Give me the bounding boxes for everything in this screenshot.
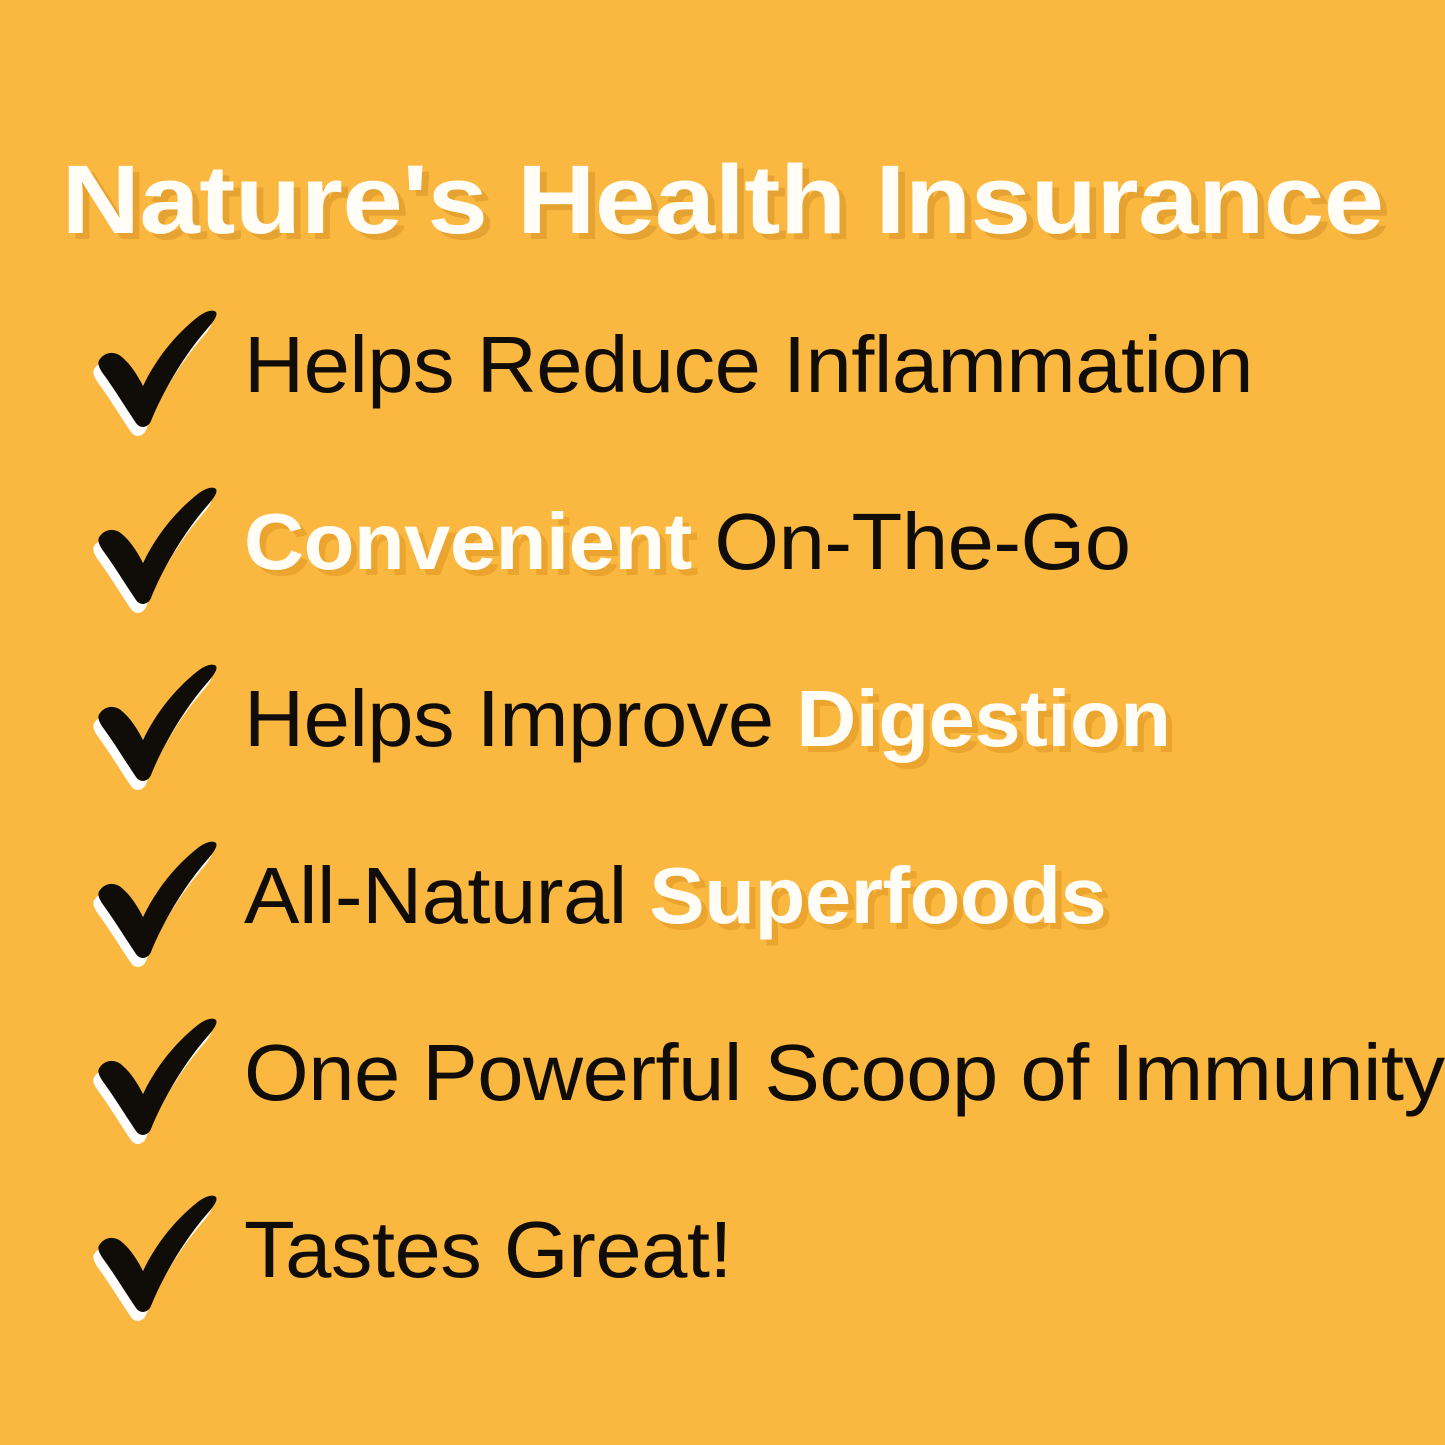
page-title: Nature's Health Insurance: [0, 151, 1445, 248]
check-mark-icon: [96, 478, 220, 606]
benefit-row-2: Convenient On-The-Go: [0, 453, 1445, 630]
check-mark-icon: [96, 1009, 220, 1137]
benefit-label-6: Tastes Great!: [244, 1208, 1445, 1292]
benefit-plain: One Powerful Scoop of Immunity: [244, 1028, 1445, 1117]
benefit-label-4: All-Natural Superfoods: [244, 854, 1445, 938]
benefit-plain: All-Natural: [244, 851, 649, 940]
benefit-row-3: Helps Improve Digestion: [0, 630, 1445, 807]
benefit-row-1: Helps Reduce Inflammation: [0, 276, 1445, 453]
benefit-row-4: All-Natural Superfoods: [0, 807, 1445, 984]
benefit-highlight: Convenient: [244, 497, 692, 586]
benefit-highlight: Superfoods: [649, 851, 1106, 940]
benefit-label-3: Helps Improve Digestion: [244, 677, 1445, 761]
check-mark-icon: [96, 301, 220, 429]
product-benefits-poster: Nature's Health Insurance Helps Reduce I…: [0, 0, 1445, 1445]
benefit-label-1: Helps Reduce Inflammation: [244, 323, 1445, 407]
benefit-plain: Helps Improve: [244, 674, 796, 763]
benefit-plain: Helps Reduce Inflammation: [244, 320, 1253, 409]
check-mark-icon: [96, 832, 220, 960]
benefit-plain: Tastes Great!: [244, 1205, 732, 1294]
benefit-highlight: Digestion: [796, 674, 1170, 763]
check-mark-icon: [96, 655, 220, 783]
benefit-label-2: Convenient On-The-Go: [244, 500, 1445, 584]
check-mark-icon: [96, 1186, 220, 1314]
benefit-list: Helps Reduce Inflammation Convenient On-…: [0, 276, 1445, 1338]
benefit-row-6: Tastes Great!: [0, 1161, 1445, 1338]
benefit-row-5: One Powerful Scoop of Immunity: [0, 984, 1445, 1161]
benefit-label-5: One Powerful Scoop of Immunity: [244, 1031, 1445, 1115]
benefit-plain: On-The-Go: [692, 497, 1131, 586]
